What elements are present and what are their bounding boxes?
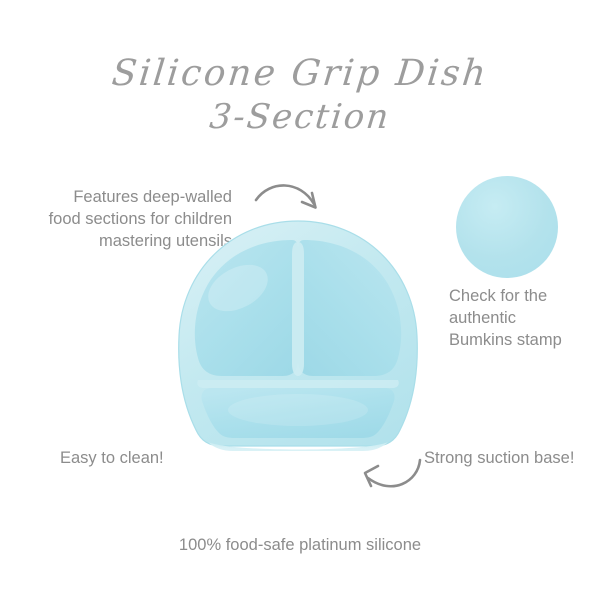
title-line-1: Silicone Grip Dish [0, 52, 600, 96]
silicone-grip-dish-illustration [168, 218, 428, 463]
callout-material-text: 100% food-safe platinum silicone [0, 534, 600, 556]
dish-gloss-bottom [228, 394, 368, 426]
callout-easy-clean-text: Easy to clean! [60, 447, 260, 469]
callout-stamp-text: Check for the authentic Bumkins stamp [449, 285, 595, 351]
bumkins-stamp-closeup [456, 176, 558, 278]
dish-divider-vertical [292, 242, 304, 376]
title-line-2: 3-Section [0, 96, 600, 138]
callout-suction-text: Strong suction base! [424, 447, 600, 469]
dish-divider-horizontal [197, 380, 399, 388]
curved-arrow-up-left-icon [348, 452, 430, 510]
product-infographic: Silicone Grip Dish 3-Section Features de… [0, 0, 600, 600]
page-title: Silicone Grip Dish 3-Section [0, 52, 600, 138]
